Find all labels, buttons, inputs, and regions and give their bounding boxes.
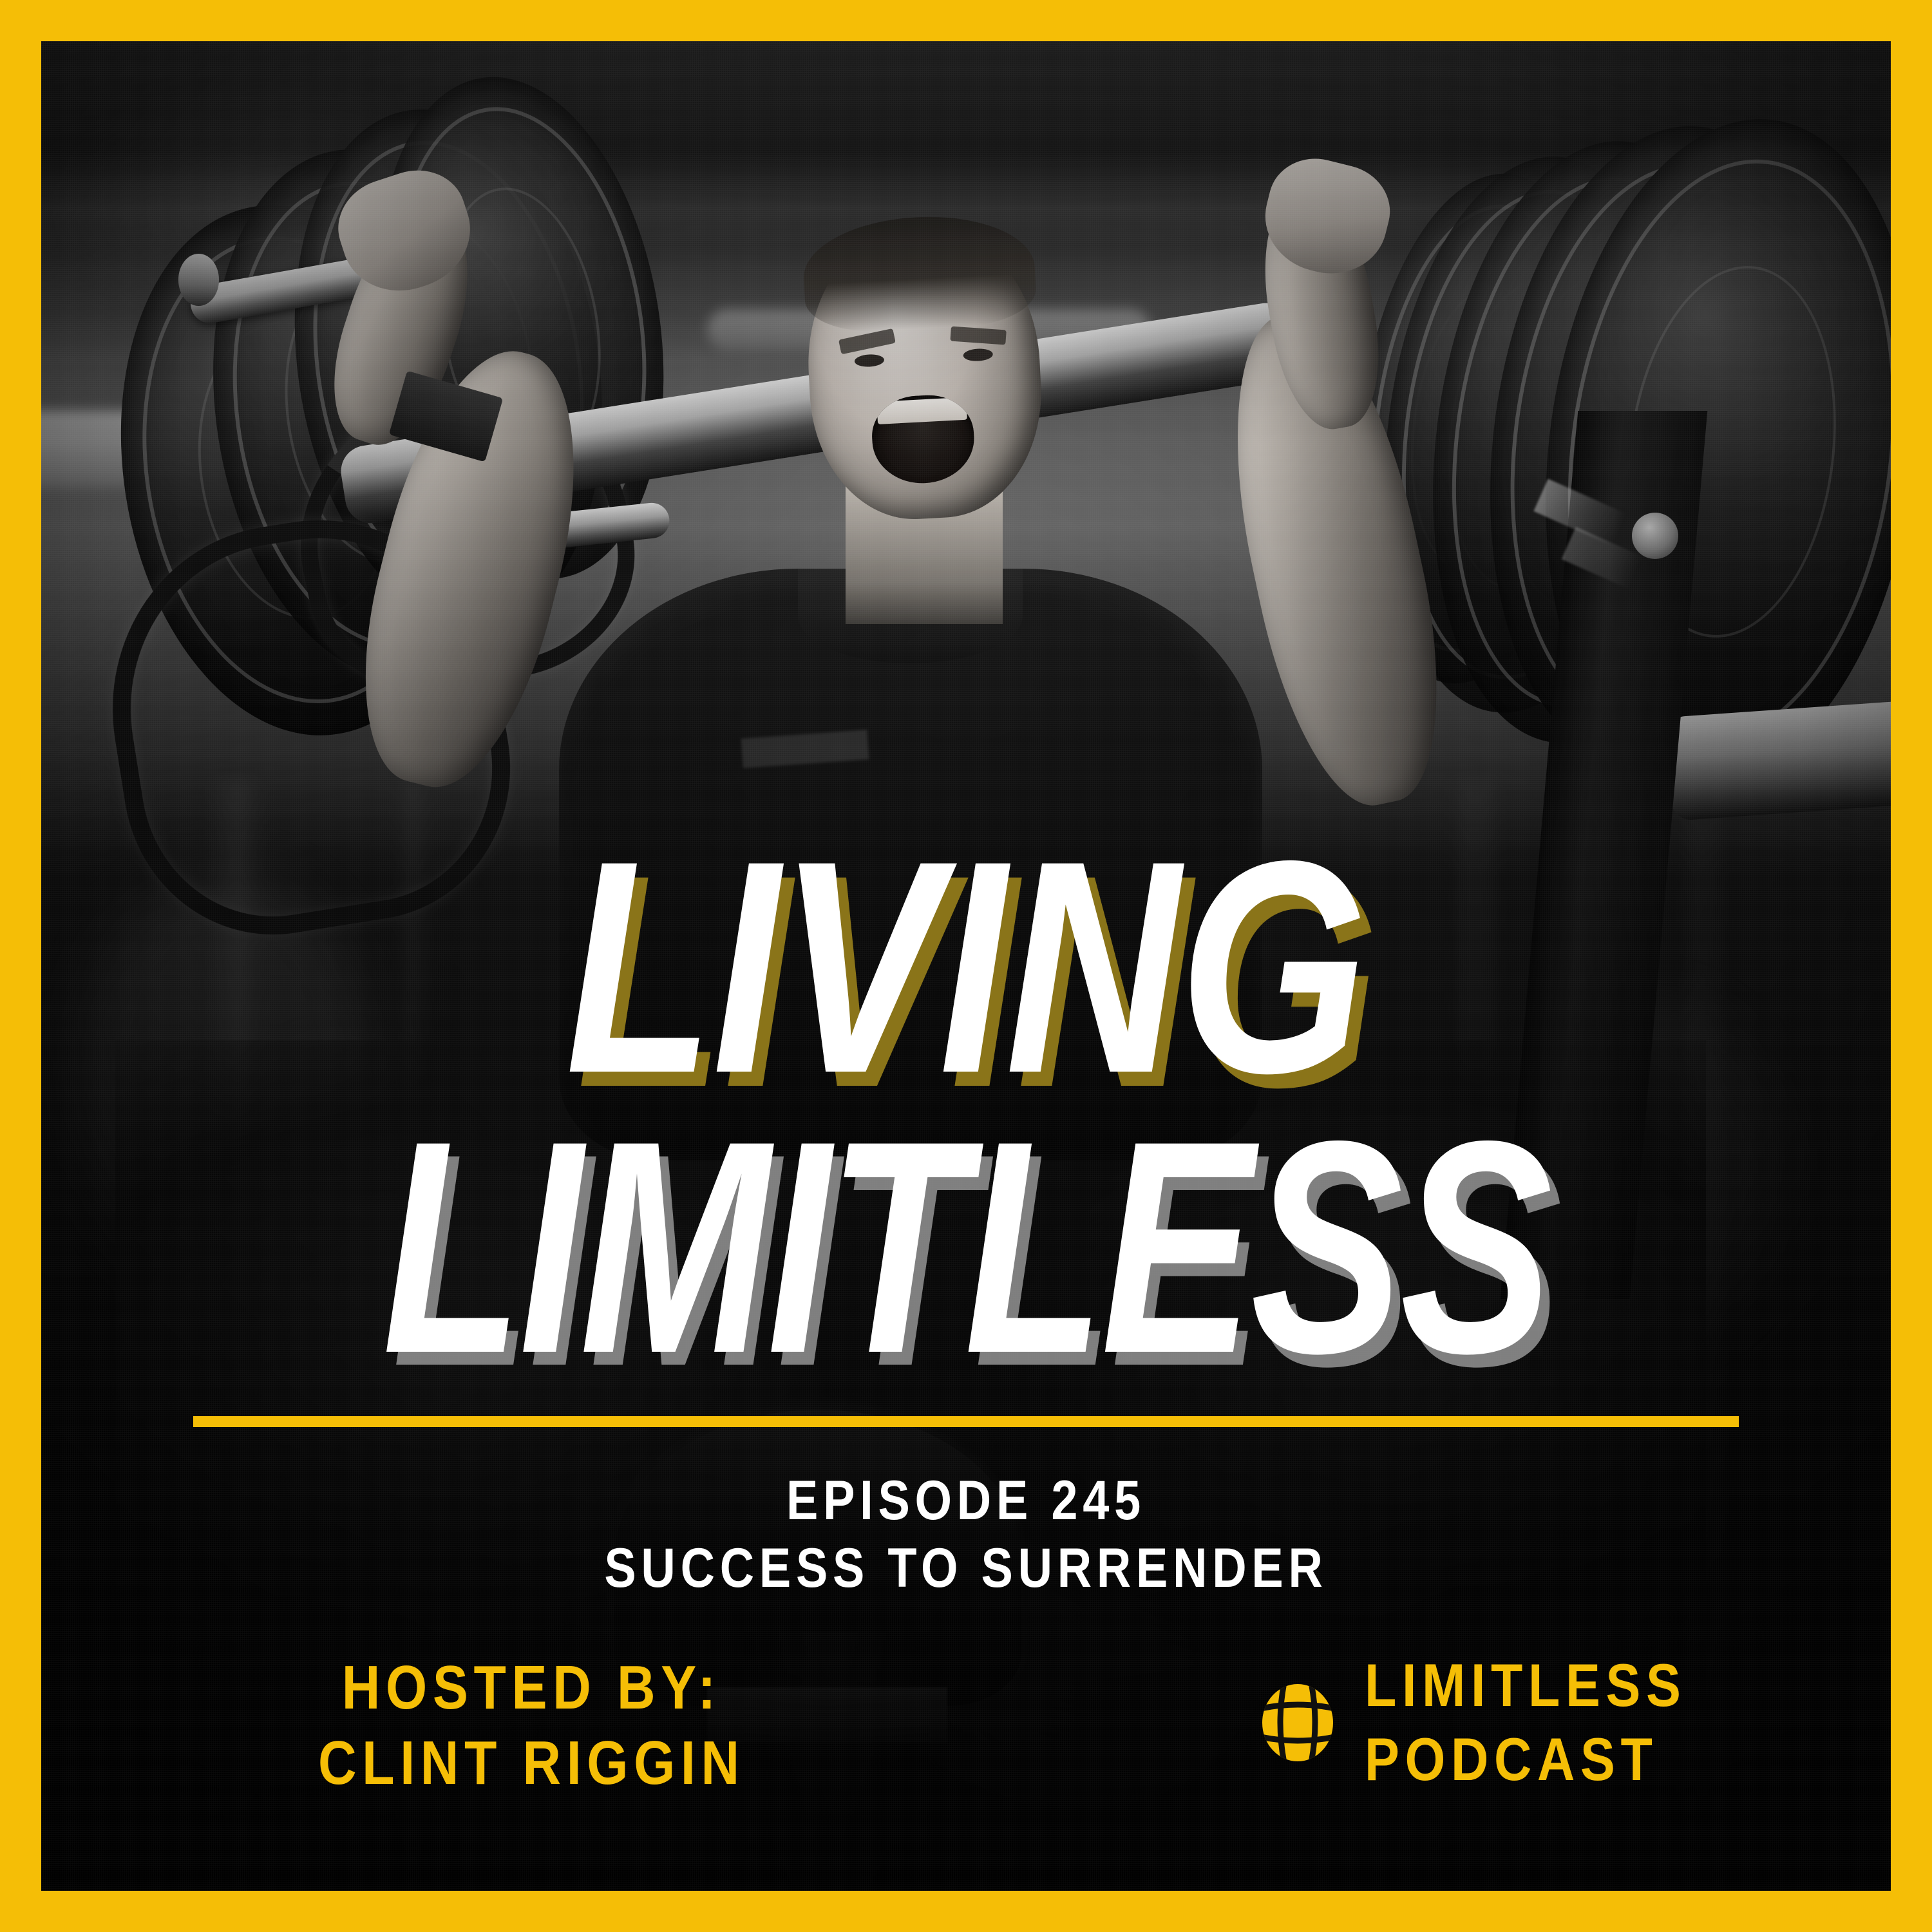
host-block: HOSTED BY: CLINT RIGGIN	[283, 1650, 780, 1801]
title-overlay: LIVING LIMITLESS EPISODE 245 SUCCESS TO …	[0, 0, 1932, 1932]
brand-line-podcast: PODCAST	[1365, 1723, 1687, 1797]
brand-line-limitless: LIMITLESS	[1365, 1649, 1687, 1723]
host-prefix: HOSTED BY:	[318, 1650, 745, 1725]
host-name: CLINT RIGGIN	[318, 1725, 745, 1801]
podcast-cover-art: LIVING LIMITLESS EPISODE 245 SUCCESS TO …	[0, 0, 1932, 1932]
title-line-limitless: LIMITLESS	[237, 1117, 1696, 1378]
episode-title: SUCCESS TO SURRENDER	[135, 1535, 1797, 1602]
title-line-living: LIVING	[193, 837, 1739, 1097]
brand-lockup: LIMITLESS PODCAST	[1260, 1649, 1739, 1796]
divider-rule	[193, 1416, 1739, 1427]
episode-block: EPISODE 245 SUCCESS TO SURRENDER	[0, 1467, 1932, 1602]
brand-text: LIMITLESS PODCAST	[1365, 1649, 1739, 1796]
globe-icon	[1260, 1682, 1335, 1763]
episode-number: EPISODE 245	[135, 1467, 1797, 1535]
